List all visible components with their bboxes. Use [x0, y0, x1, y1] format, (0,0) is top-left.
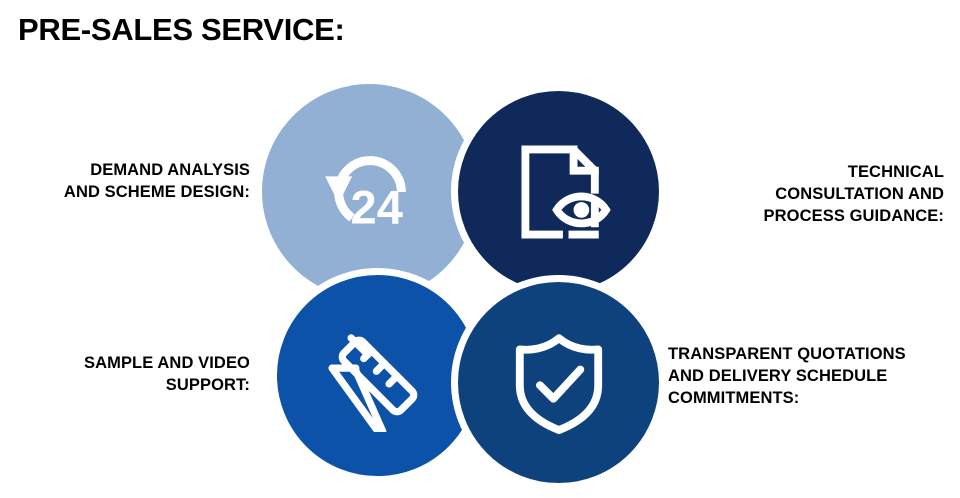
shield-check-icon [503, 327, 615, 439]
label-line: AND DELIVERY SCHEDULE [668, 366, 960, 388]
svg-text:24: 24 [350, 180, 402, 233]
label-technical-consultation: TECHNICAL CONSULTATION AND PROCESS GUIDA… [690, 162, 944, 227]
label-line: TECHNICAL [690, 162, 944, 184]
pre-sales-service-infographic: PRE-SALES SERVICE: 24 [0, 0, 960, 498]
label-line: SUPPORT: [0, 375, 250, 397]
label-sample-video-support: SAMPLE AND VIDEO SUPPORT: [0, 353, 250, 397]
document-eye-icon [503, 136, 615, 248]
label-line: DEMAND ANALYSIS [0, 160, 250, 182]
label-demand-analysis: DEMAND ANALYSIS AND SCHEME DESIGN: [0, 160, 250, 204]
label-line: COMMITMENTS: [668, 388, 960, 410]
circle-technical-consultation[interactable] [451, 84, 666, 299]
circle-transparent-quotations[interactable] [451, 275, 666, 490]
circle-demand-analysis[interactable]: 24 [262, 84, 477, 299]
page-title: PRE-SALES SERVICE: [18, 12, 345, 48]
label-line: CONSULTATION AND [690, 184, 944, 206]
label-line: PROCESS GUIDANCE: [690, 206, 944, 228]
label-transparent-quotations: TRANSPARENT QUOTATIONS AND DELIVERY SCHE… [668, 344, 960, 409]
pencil-ruler-icon [322, 320, 434, 432]
circle-cluster: 24 [262, 84, 666, 490]
24-hour-rotate-icon: 24 [314, 136, 426, 248]
label-line: SAMPLE AND VIDEO [0, 353, 250, 375]
label-line: AND SCHEME DESIGN: [0, 182, 250, 204]
label-line: TRANSPARENT QUOTATIONS [668, 344, 960, 366]
